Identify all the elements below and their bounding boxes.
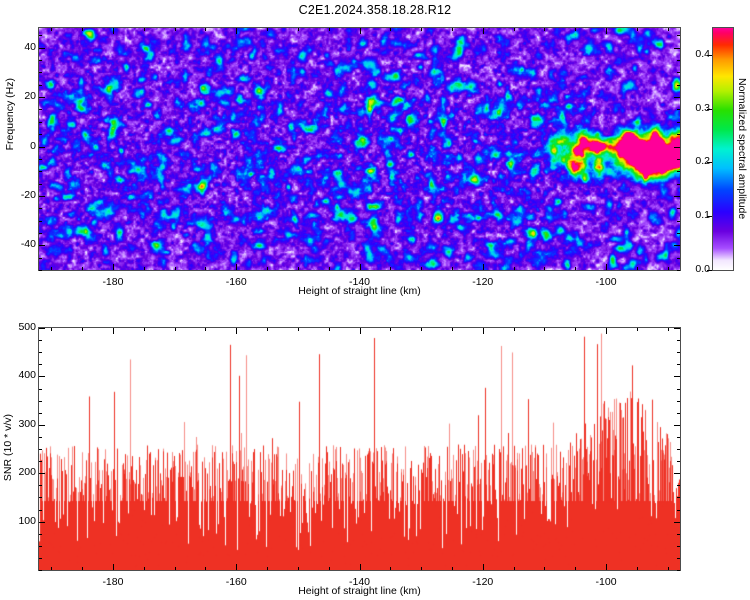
x-tick-minor bbox=[298, 567, 299, 570]
x-tick-minor bbox=[144, 567, 145, 570]
y-tick-minor bbox=[677, 208, 680, 209]
y-tick-minor bbox=[677, 485, 680, 486]
y-tick-minor bbox=[677, 258, 680, 259]
y-tick-minor bbox=[39, 401, 42, 402]
x-tick-minor bbox=[298, 267, 299, 270]
y-tick-minor bbox=[39, 461, 42, 462]
y-tick-label: 40 bbox=[6, 41, 36, 53]
x-tick-minor bbox=[144, 28, 145, 31]
x-tick-minor bbox=[452, 567, 453, 570]
y-tick-minor bbox=[39, 109, 42, 110]
x-tick-minor bbox=[329, 267, 330, 270]
x-tick-minor bbox=[575, 28, 576, 31]
y-tick-minor bbox=[39, 245, 42, 246]
spectrogram-y-axis-title: Frequency (Hz) bbox=[4, 78, 16, 150]
colorbar-tick-label: 0.1 bbox=[686, 209, 710, 221]
y-tick-minor bbox=[39, 35, 42, 36]
x-tick-minor bbox=[175, 267, 176, 270]
x-tick-minor bbox=[514, 567, 515, 570]
x-tick-minor bbox=[514, 328, 515, 331]
y-tick-minor bbox=[39, 497, 42, 498]
y-tick-minor bbox=[39, 413, 42, 414]
y-tick-minor bbox=[677, 184, 680, 185]
x-tick-minor bbox=[606, 567, 607, 570]
x-tick-minor bbox=[82, 328, 83, 331]
x-tick-minor bbox=[51, 567, 52, 570]
snr-canvas bbox=[39, 328, 680, 570]
colorbar-tick-label: 0.0 bbox=[686, 263, 710, 275]
y-tick-minor bbox=[677, 352, 680, 353]
y-tick-minor bbox=[677, 340, 680, 341]
spectrogram-x-axis-title: Height of straight line (km) bbox=[38, 285, 681, 297]
x-tick-minor bbox=[544, 267, 545, 270]
y-tick-label: 500 bbox=[6, 321, 36, 333]
x-tick-minor bbox=[575, 328, 576, 331]
y-tick-minor bbox=[39, 134, 42, 135]
x-tick-minor bbox=[637, 567, 638, 570]
y-tick-minor bbox=[677, 48, 680, 49]
x-tick-minor bbox=[205, 328, 206, 331]
x-tick-minor bbox=[390, 328, 391, 331]
x-tick-minor bbox=[82, 567, 83, 570]
y-tick-minor bbox=[39, 171, 42, 172]
colorbar-gradient bbox=[712, 27, 734, 271]
x-tick-minor bbox=[452, 28, 453, 31]
x-tick-minor bbox=[514, 267, 515, 270]
x-tick-minor bbox=[575, 567, 576, 570]
y-tick-minor bbox=[677, 546, 680, 547]
colorbar-title: Normalized spectral amplitude bbox=[735, 27, 749, 271]
x-tick-minor bbox=[236, 328, 237, 331]
x-tick-minor bbox=[483, 28, 484, 31]
y-tick-minor bbox=[39, 522, 42, 523]
y-tick-minor bbox=[677, 134, 680, 135]
x-tick-minor bbox=[236, 567, 237, 570]
x-tick-minor bbox=[144, 267, 145, 270]
x-tick-minor bbox=[267, 567, 268, 570]
y-tick-minor bbox=[677, 109, 680, 110]
y-tick-minor bbox=[39, 97, 42, 98]
y-tick-minor bbox=[39, 510, 42, 511]
y-tick-minor bbox=[677, 171, 680, 172]
y-tick-minor bbox=[677, 389, 680, 390]
y-tick-minor bbox=[677, 35, 680, 36]
x-tick-minor bbox=[606, 328, 607, 331]
x-tick-minor bbox=[175, 328, 176, 331]
y-tick-minor bbox=[677, 534, 680, 535]
y-tick-minor bbox=[677, 401, 680, 402]
y-tick-minor bbox=[39, 184, 42, 185]
y-tick-minor bbox=[677, 449, 680, 450]
y-tick-minor bbox=[677, 522, 680, 523]
x-tick-minor bbox=[452, 267, 453, 270]
figure-title: C2E1.2024.358.18.28.R12 bbox=[0, 3, 750, 17]
y-tick-minor bbox=[39, 60, 42, 61]
y-tick-minor bbox=[39, 258, 42, 259]
spectrogram-canvas bbox=[39, 28, 680, 270]
y-tick-minor bbox=[677, 122, 680, 123]
y-tick-minor bbox=[677, 60, 680, 61]
y-tick-minor bbox=[39, 122, 42, 123]
x-tick-minor bbox=[452, 328, 453, 331]
y-tick-minor bbox=[677, 159, 680, 160]
x-tick-minor bbox=[421, 267, 422, 270]
x-tick-minor bbox=[390, 28, 391, 31]
x-tick-minor bbox=[329, 328, 330, 331]
x-tick-minor bbox=[483, 567, 484, 570]
y-tick-minor bbox=[677, 221, 680, 222]
x-tick-minor bbox=[575, 267, 576, 270]
y-tick-label: 100 bbox=[6, 515, 36, 527]
y-tick-minor bbox=[677, 233, 680, 234]
y-tick-minor bbox=[39, 147, 42, 148]
y-tick-minor bbox=[39, 364, 42, 365]
x-tick-minor bbox=[668, 267, 669, 270]
y-tick-minor bbox=[39, 376, 42, 377]
x-tick-minor bbox=[267, 267, 268, 270]
x-tick-minor bbox=[360, 328, 361, 331]
y-tick-minor bbox=[677, 147, 680, 148]
y-tick-minor bbox=[39, 570, 42, 571]
x-tick-minor bbox=[175, 28, 176, 31]
y-tick-minor bbox=[39, 485, 42, 486]
colorbar-tick-label: 0.2 bbox=[686, 155, 710, 167]
y-tick-label: 400 bbox=[6, 369, 36, 381]
x-tick-minor bbox=[51, 328, 52, 331]
x-tick-minor bbox=[514, 28, 515, 31]
x-tick-minor bbox=[82, 28, 83, 31]
y-tick-minor bbox=[677, 425, 680, 426]
colorbar-gradient-fill bbox=[713, 28, 733, 270]
x-tick-minor bbox=[298, 328, 299, 331]
y-tick-minor bbox=[677, 570, 680, 571]
x-tick-minor bbox=[544, 28, 545, 31]
x-tick-minor bbox=[544, 567, 545, 570]
x-tick-minor bbox=[421, 328, 422, 331]
x-tick-minor bbox=[360, 28, 361, 31]
y-tick-minor bbox=[39, 449, 42, 450]
x-tick-minor bbox=[236, 28, 237, 31]
spectrogram-panel bbox=[38, 27, 681, 271]
x-tick-minor bbox=[360, 567, 361, 570]
x-tick-minor bbox=[483, 328, 484, 331]
x-tick-minor bbox=[668, 567, 669, 570]
y-tick-minor bbox=[39, 270, 42, 271]
y-tick-minor bbox=[677, 85, 680, 86]
x-tick-minor bbox=[298, 28, 299, 31]
y-tick-minor bbox=[39, 546, 42, 547]
x-tick-minor bbox=[329, 567, 330, 570]
x-tick-minor bbox=[390, 567, 391, 570]
y-tick-minor bbox=[39, 558, 42, 559]
snr-x-axis-title: Height of straight line (km) bbox=[38, 585, 681, 597]
y-tick-minor bbox=[677, 497, 680, 498]
y-tick-minor bbox=[677, 437, 680, 438]
x-tick-minor bbox=[483, 267, 484, 270]
y-tick-minor bbox=[39, 534, 42, 535]
x-tick-minor bbox=[637, 28, 638, 31]
x-tick-minor bbox=[668, 328, 669, 331]
x-tick-minor bbox=[144, 328, 145, 331]
y-tick-minor bbox=[677, 72, 680, 73]
x-tick-minor bbox=[360, 267, 361, 270]
colorbar-tick-label: 0.3 bbox=[686, 102, 710, 114]
y-tick-minor bbox=[677, 510, 680, 511]
y-tick-minor bbox=[677, 270, 680, 271]
y-tick-minor bbox=[39, 340, 42, 341]
x-tick-minor bbox=[51, 267, 52, 270]
x-tick-minor bbox=[637, 328, 638, 331]
snr-y-axis-title: SNR (10 * v/v) bbox=[2, 414, 14, 481]
y-tick-minor bbox=[39, 48, 42, 49]
x-tick-minor bbox=[205, 28, 206, 31]
y-tick-minor bbox=[39, 196, 42, 197]
y-tick-minor bbox=[39, 221, 42, 222]
y-tick-minor bbox=[39, 328, 42, 329]
x-tick-minor bbox=[606, 267, 607, 270]
y-tick-minor bbox=[39, 208, 42, 209]
x-tick-minor bbox=[113, 267, 114, 270]
y-tick-minor bbox=[677, 97, 680, 98]
x-tick-minor bbox=[390, 267, 391, 270]
x-tick-minor bbox=[329, 28, 330, 31]
y-tick-minor bbox=[677, 328, 680, 329]
x-tick-minor bbox=[205, 567, 206, 570]
y-tick-minor bbox=[39, 233, 42, 234]
figure-root: C2E1.2024.358.18.28.R12 -180-160-140-120… bbox=[0, 0, 750, 600]
y-tick-minor bbox=[39, 72, 42, 73]
y-tick-minor bbox=[677, 245, 680, 246]
x-tick-minor bbox=[421, 28, 422, 31]
x-tick-minor bbox=[113, 28, 114, 31]
y-tick-label: -20 bbox=[6, 189, 36, 201]
x-tick-minor bbox=[544, 328, 545, 331]
x-tick-minor bbox=[113, 567, 114, 570]
x-tick-minor bbox=[637, 267, 638, 270]
y-tick-minor bbox=[39, 473, 42, 474]
x-tick-minor bbox=[236, 267, 237, 270]
y-tick-minor bbox=[39, 437, 42, 438]
y-tick-minor bbox=[39, 159, 42, 160]
y-tick-minor bbox=[677, 473, 680, 474]
y-tick-minor bbox=[39, 352, 42, 353]
x-tick-minor bbox=[668, 28, 669, 31]
y-tick-label: -40 bbox=[6, 238, 36, 250]
y-tick-minor bbox=[39, 425, 42, 426]
x-tick-minor bbox=[82, 267, 83, 270]
x-tick-minor bbox=[205, 267, 206, 270]
colorbar-tick-label: 0.4 bbox=[686, 48, 710, 60]
y-tick-minor bbox=[677, 461, 680, 462]
y-tick-minor bbox=[677, 413, 680, 414]
y-tick-minor bbox=[677, 364, 680, 365]
x-tick-minor bbox=[267, 28, 268, 31]
x-tick-minor bbox=[51, 28, 52, 31]
colorbar: 0.00.10.20.30.4 bbox=[712, 27, 734, 271]
y-tick-minor bbox=[677, 196, 680, 197]
y-tick-minor bbox=[677, 376, 680, 377]
y-tick-minor bbox=[677, 558, 680, 559]
x-tick-minor bbox=[267, 328, 268, 331]
x-tick-minor bbox=[113, 328, 114, 331]
snr-panel bbox=[38, 327, 681, 571]
x-tick-minor bbox=[606, 28, 607, 31]
x-tick-minor bbox=[175, 567, 176, 570]
x-tick-minor bbox=[421, 567, 422, 570]
y-tick-minor bbox=[39, 85, 42, 86]
y-tick-minor bbox=[39, 389, 42, 390]
